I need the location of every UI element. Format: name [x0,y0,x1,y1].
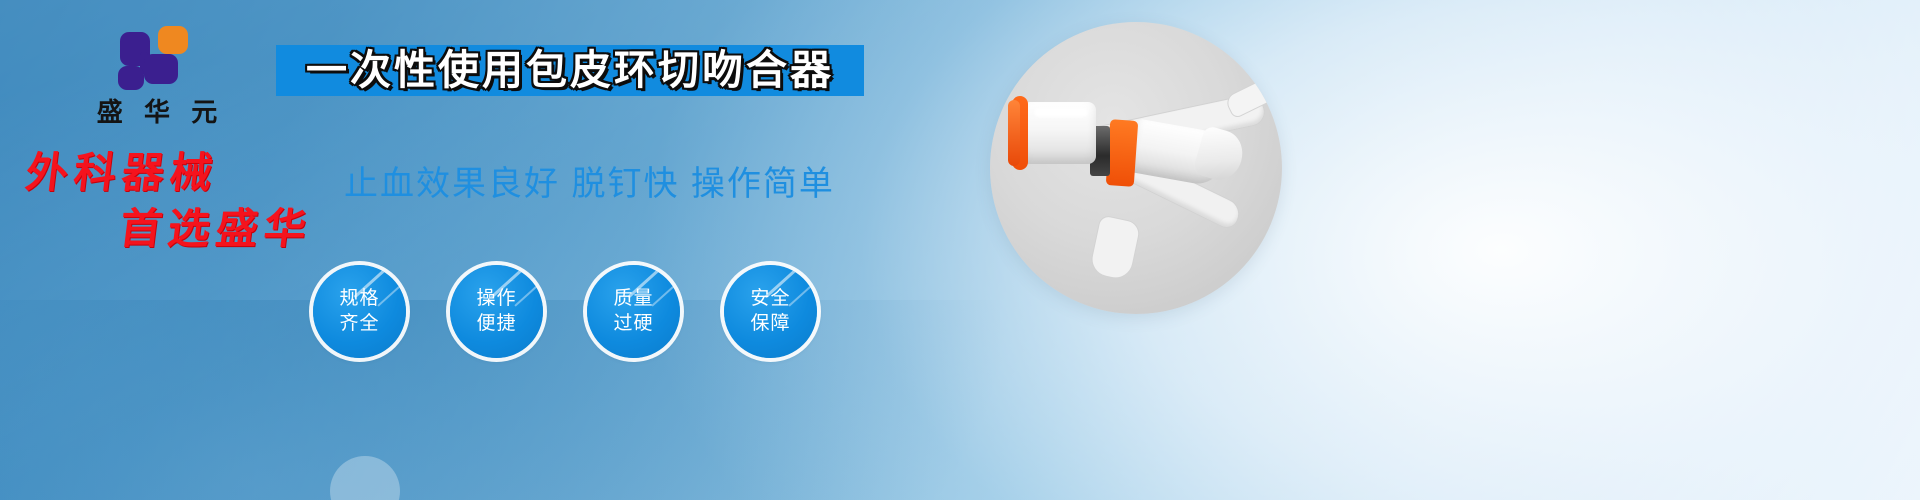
product-photo-circle [990,22,1282,314]
feature-badge-1-line1: 规格 [339,287,379,311]
feature-badge-2-line1: 操作 [476,287,516,311]
logo-block-3 [118,66,144,90]
feature-badge-3-line1: 质量 [613,287,653,311]
decorative-circle [330,456,400,500]
brand-logo-block[interactable]: 盛 华 元 [62,26,252,127]
brand-slogan-red: 外科器械 首选盛华 [18,152,348,250]
headline-banner-box: 一次性使用包皮环切吻合器 [276,45,864,96]
feature-badge-1-line2: 齐全 [339,312,379,336]
feature-badge-4[interactable]: 安全 保障 [724,265,817,358]
feature-badge-2-line2: 便捷 [476,312,516,336]
feature-badge-2[interactable]: 操作 便捷 [450,265,543,358]
product-subtitle: 止血效果良好 脱钉快 操作简单 [344,166,835,203]
feature-badge-list: 规格 齐全 操作 便捷 质量 过硬 安全 保障 [313,265,817,358]
feature-badge-4-line1: 安全 [750,287,790,311]
promotional-banner: 盛 华 元 一次性使用包皮环切吻合器 外科器械 首选盛华 止血效果良好 脱钉快 … [0,0,1920,500]
company-name: 盛 华 元 [62,98,252,127]
company-logo-icon [118,26,196,92]
gloss-highlight-secondary-icon [651,285,675,307]
feature-badge-3[interactable]: 质量 过硬 [587,265,680,358]
feature-badge-1[interactable]: 规格 齐全 [313,265,406,358]
stapler-orange-collar [1106,119,1139,187]
gloss-highlight-secondary-icon [788,285,812,307]
stapler-orange-face [1008,100,1020,166]
feature-badge-3-line2: 过硬 [613,312,653,336]
gloss-highlight-secondary-icon [377,285,401,307]
gloss-highlight-secondary-icon [514,285,538,307]
slogan-line-1: 外科器械 [23,152,350,194]
logo-block-2 [144,54,178,84]
slogan-line-2: 首选盛华 [117,208,350,250]
feature-badge-4-line2: 保障 [750,312,790,336]
product-title: 一次性使用包皮环切吻合器 [306,50,834,91]
logo-block-accent [158,26,188,54]
barrel-specular-highlight [1034,108,1088,117]
stapler-lower-arm-tip [1088,214,1142,281]
